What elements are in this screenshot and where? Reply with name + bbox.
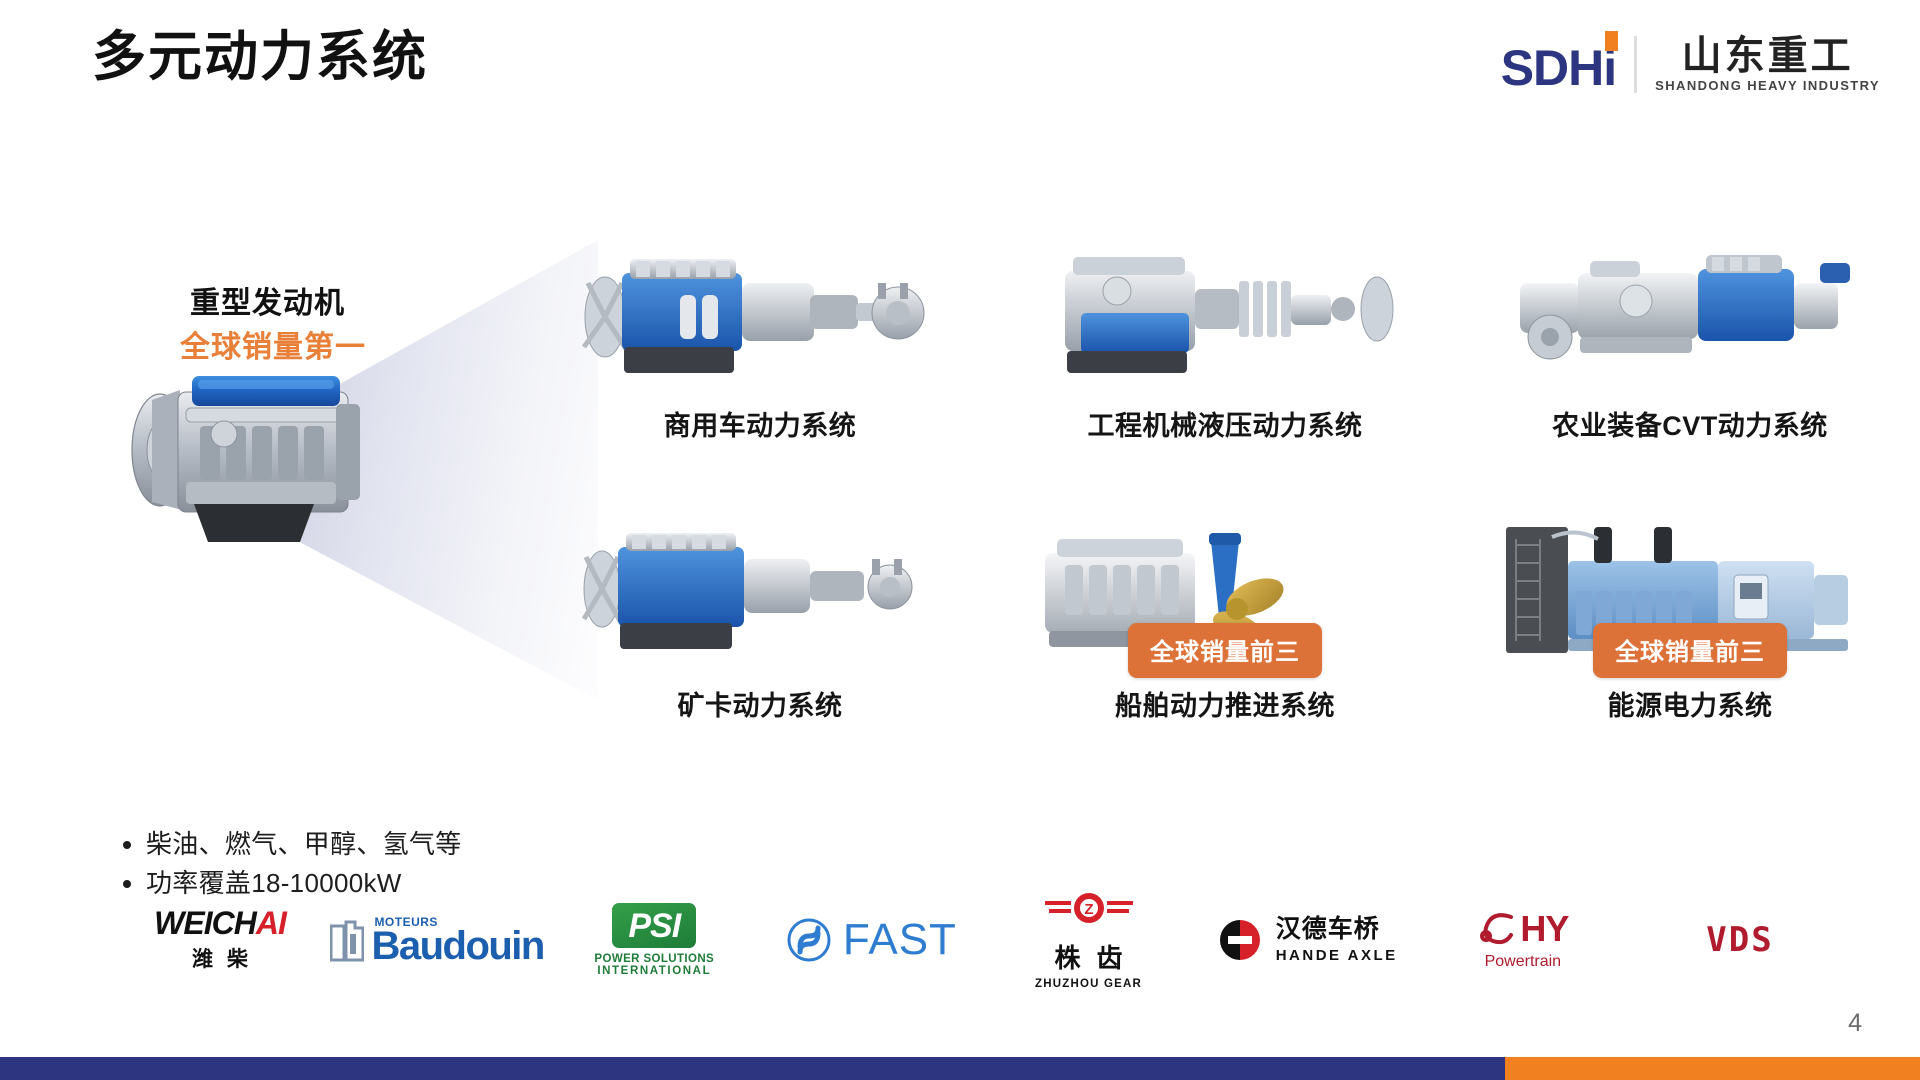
partner-logo-strip: WEICH AI 潍柴 MOTEURS Baudouin PSI xyxy=(120,880,1840,1000)
product-card-mining-truck[interactable]: 矿卡动力系统 xyxy=(560,505,960,723)
psi-subtitle-1: POWER SOLUTIONS xyxy=(594,953,714,965)
psi-subtitle-2: INTERNATIONAL xyxy=(597,965,711,977)
weichai-wordmark-accent: AI xyxy=(256,907,286,939)
heavy-duty-engine-image xyxy=(120,330,410,560)
product-label: 船舶动力推进系统 xyxy=(1025,684,1425,723)
status-badge: 全球销量前三 xyxy=(1128,623,1322,678)
fast-mark-icon xyxy=(786,917,832,963)
fast-wordmark: FAST xyxy=(843,918,957,962)
product-image-mining-truck xyxy=(560,505,960,670)
list-item: 柴油、燃气、甲醇、氢气等 xyxy=(146,825,590,864)
product-card-marine-propulsion[interactable]: 全球销量前三 船舶动力推进系统 xyxy=(1025,505,1425,723)
weichai-cn-name: 潍柴 xyxy=(178,943,262,973)
product-label: 农业装备CVT动力系统 xyxy=(1490,404,1890,443)
weichai-wordmark: WEICH xyxy=(154,907,256,939)
hande-axle-mark-icon xyxy=(1214,916,1266,964)
lhy-subtitle: Powertrain xyxy=(1485,953,1561,971)
svg-text:Z: Z xyxy=(1084,901,1093,918)
product-image-agriculture-cvt xyxy=(1490,225,1890,390)
hero-caption-primary: 重型发动机 xyxy=(190,278,345,322)
sdhi-accent-dot-icon xyxy=(1605,31,1618,51)
partner-logo-psi: PSI POWER SOLUTIONS INTERNATIONAL xyxy=(554,885,754,995)
slide: 多元动力系统 SDHi 山东重工 SHANDONG HEAVY INDUSTRY… xyxy=(0,0,1920,1080)
product-card-commercial-vehicle[interactable]: 商用车动力系统 xyxy=(560,225,960,443)
lhy-swoosh-icon xyxy=(1477,909,1517,949)
partner-logo-zhuzhou-gear: Z 株齿 ZHUZHOU GEAR xyxy=(989,885,1189,995)
hande-cn-name: 汉德车桥 xyxy=(1276,916,1398,942)
partner-logo-vds: VDS xyxy=(1640,885,1840,995)
partner-logo-fast: FAST xyxy=(771,885,971,995)
sdhi-letters: SDHi xyxy=(1501,40,1616,96)
product-image-commercial-vehicle xyxy=(560,225,960,390)
footer-bar-navy xyxy=(0,1057,1505,1080)
page-title: 多元动力系统 xyxy=(92,28,428,87)
partner-logo-weichai: WEICH AI 潍柴 xyxy=(120,885,320,995)
brand-cn-name: 山东重工 xyxy=(1682,36,1854,76)
product-label: 工程机械液压动力系统 xyxy=(1025,404,1425,443)
product-card-energy-power[interactable]: 全球销量前三 能源电力系统 xyxy=(1490,505,1890,723)
hero-block: 重型发动机 全球销量第一 xyxy=(0,170,640,810)
partner-logo-lhy: HY Powertrain xyxy=(1423,885,1623,995)
baudouin-wordmark: Baudouin xyxy=(371,928,543,965)
status-badge: 全球销量前三 xyxy=(1593,623,1787,678)
zhuzhou-gear-en-name: ZHUZHOU GEAR xyxy=(1035,978,1142,990)
partner-logo-baudouin: MOTEURS Baudouin xyxy=(337,885,537,995)
product-label: 商用车动力系统 xyxy=(560,404,960,443)
sdhi-wordmark: SDHi xyxy=(1501,43,1616,93)
lhy-wordmark: HY xyxy=(1520,911,1568,947)
product-image-construction-hydraulic xyxy=(1025,225,1425,390)
product-label: 能源电力系统 xyxy=(1490,684,1890,723)
hande-en-name: HANDE AXLE xyxy=(1276,947,1398,964)
product-label: 矿卡动力系统 xyxy=(560,684,960,723)
partner-logo-hande-axle: 汉德车桥 HANDE AXLE xyxy=(1206,885,1406,995)
page-number: 4 xyxy=(1848,1009,1862,1038)
vds-wordmark: VDS xyxy=(1706,920,1773,960)
product-card-agriculture-cvt[interactable]: 农业装备CVT动力系统 xyxy=(1490,225,1890,443)
baudouin-mark-icon xyxy=(330,918,364,962)
zhuzhou-gear-mark-icon: Z xyxy=(1041,891,1137,933)
psi-wordmark: PSI xyxy=(628,909,680,943)
footer-bar-orange xyxy=(1505,1057,1920,1080)
brand-cn-block: 山东重工 SHANDONG HEAVY INDUSTRY xyxy=(1634,36,1880,93)
brand-en-name: SHANDONG HEAVY INDUSTRY xyxy=(1655,78,1880,93)
psi-badge: PSI xyxy=(612,903,696,948)
brand-logo: SDHi 山东重工 SHANDONG HEAVY INDUSTRY xyxy=(1501,36,1880,93)
product-grid: 商用车动力系统 xyxy=(560,225,1890,785)
footer-bar xyxy=(0,1057,1920,1080)
product-card-construction-hydraulic[interactable]: 工程机械液压动力系统 xyxy=(1025,225,1425,443)
zhuzhou-gear-cn-name: 株齿 xyxy=(1039,938,1139,975)
